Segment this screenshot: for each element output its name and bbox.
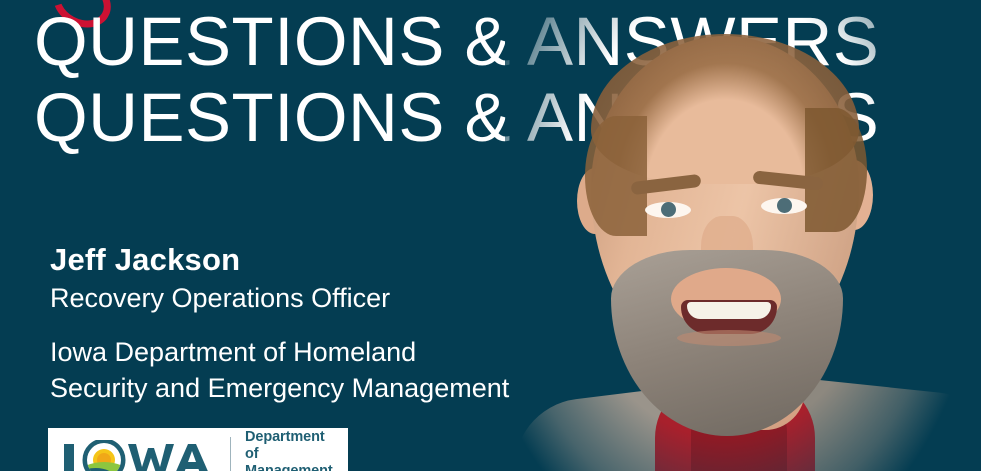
logo-agency-line-2: Management xyxy=(245,463,336,471)
speaker-name: Jeff Jackson xyxy=(50,240,509,280)
logo-agency-name: Department of Management xyxy=(245,429,336,471)
logo-divider xyxy=(230,437,231,471)
iowa-wordmark-icon: TM xyxy=(62,428,214,471)
speaker-org-line-1: Iowa Department of Homeland xyxy=(50,334,509,370)
speaker-photo xyxy=(505,0,981,471)
speaker-organization: Iowa Department of Homeland Security and… xyxy=(50,334,509,406)
speaker-role: Recovery Operations Officer xyxy=(50,280,509,316)
speaker-info: Jeff Jackson Recovery Operations Officer… xyxy=(50,240,509,406)
qa-slide: QUESTIONS & ANSWERS QUESTIONS & ANSWERS … xyxy=(0,0,981,471)
photo-edge-blend xyxy=(505,0,981,471)
iowa-dom-logo: TM Department of Management xyxy=(48,428,348,471)
speaker-org-line-2: Security and Emergency Management xyxy=(50,370,509,406)
logo-agency-line-1: Department of xyxy=(245,429,336,463)
